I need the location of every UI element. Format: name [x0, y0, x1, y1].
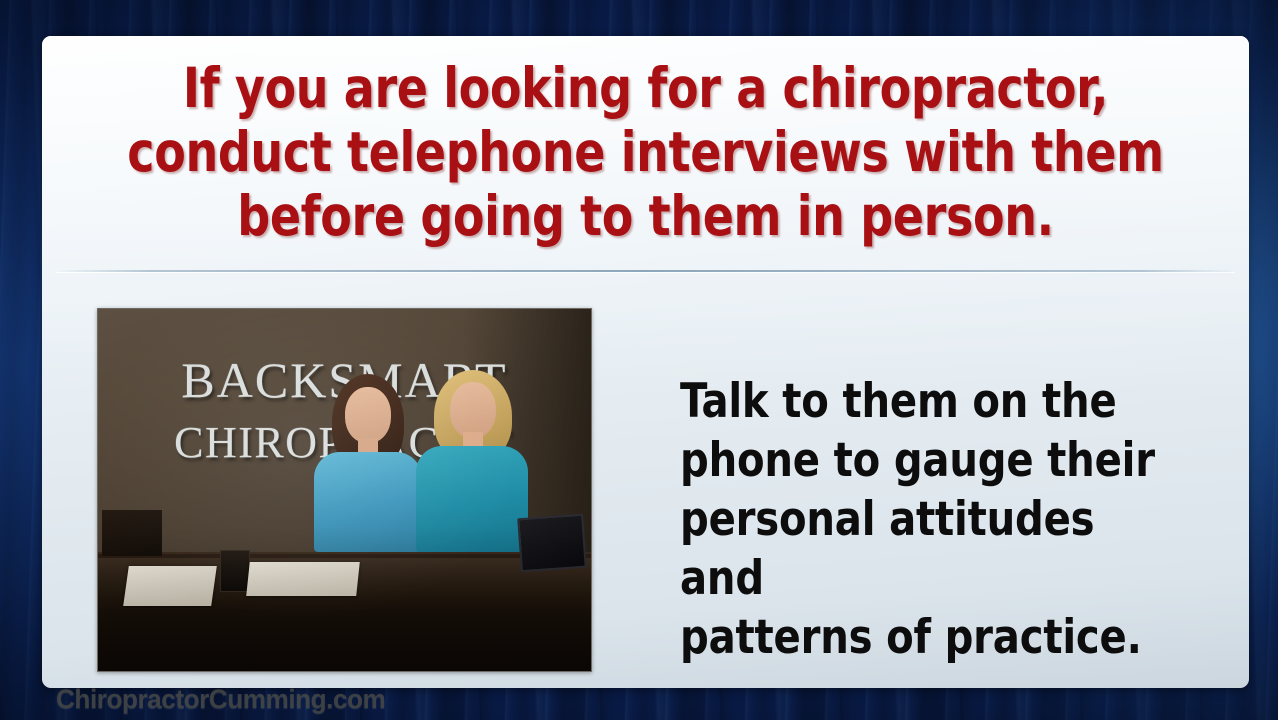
body-text: Talk to them on the phone to gauge their…	[680, 372, 1174, 667]
photo-counter-cabinet	[102, 510, 162, 556]
photo-counter-box	[220, 550, 250, 592]
photo-reception-counter	[98, 552, 591, 671]
reception-photo: BACKSMART CHIROPRACTIC	[97, 308, 592, 672]
photo-paperwork-left	[123, 566, 217, 606]
photo-paperwork-right	[246, 562, 360, 596]
photo-person-left	[314, 374, 422, 552]
photo-person-right	[416, 370, 528, 552]
photo-monitor	[517, 513, 587, 571]
section-divider	[56, 270, 1235, 272]
watermark-text: ChiropractorCumming.com	[56, 684, 385, 715]
headline-text: If you are looking for a chiropractor, c…	[110, 56, 1180, 248]
photo-person-right-scrubs	[416, 446, 528, 552]
photo-person-right-face	[450, 382, 496, 438]
content-card: If you are looking for a chiropractor, c…	[42, 36, 1249, 688]
photo-person-left-face	[345, 387, 391, 443]
photo-person-left-scrubs	[314, 452, 422, 552]
slide-root: If you are looking for a chiropractor, c…	[0, 0, 1278, 720]
